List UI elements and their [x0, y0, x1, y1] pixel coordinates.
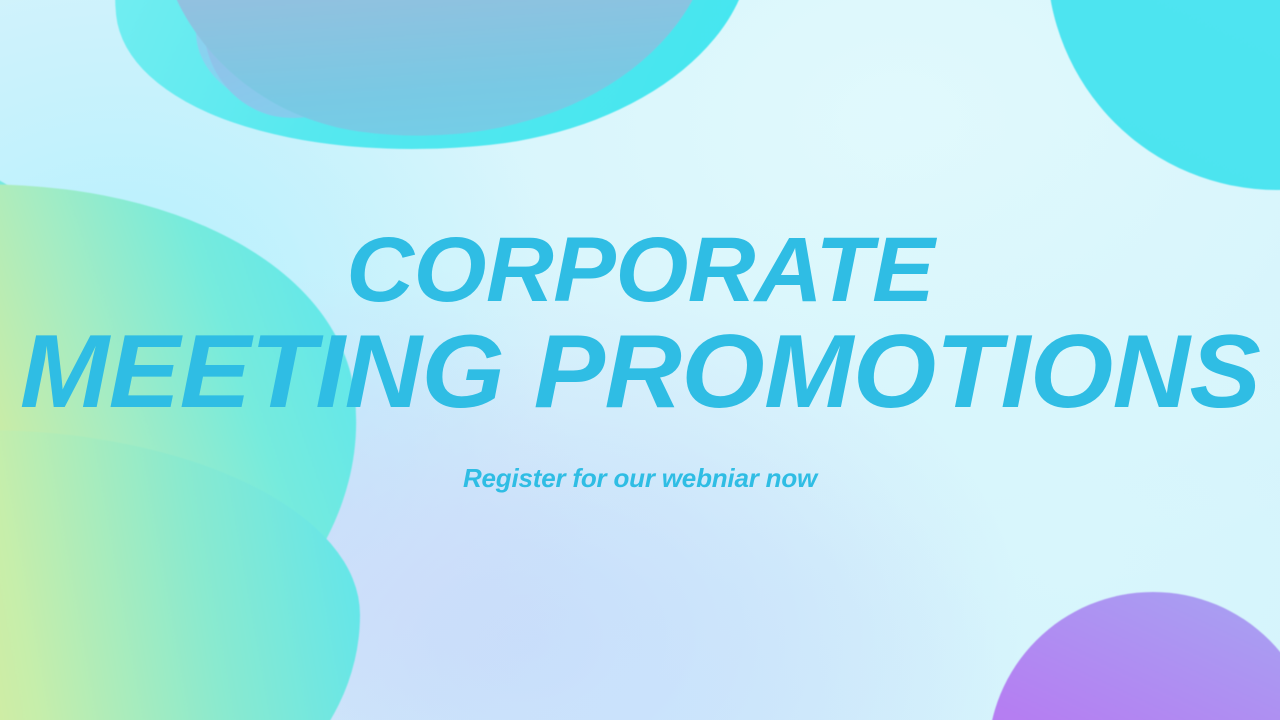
promotional-slide: CORPORATE MEETING PROMOTIONS Register fo… — [0, 0, 1280, 720]
slide-content: CORPORATE MEETING PROMOTIONS Register fo… — [0, 0, 1280, 720]
subtitle-call-to-action: Register for our webniar now — [463, 463, 817, 494]
headline-line-2: MEETING PROMOTIONS — [20, 323, 1261, 423]
headline-line-1: CORPORATE — [346, 226, 934, 314]
